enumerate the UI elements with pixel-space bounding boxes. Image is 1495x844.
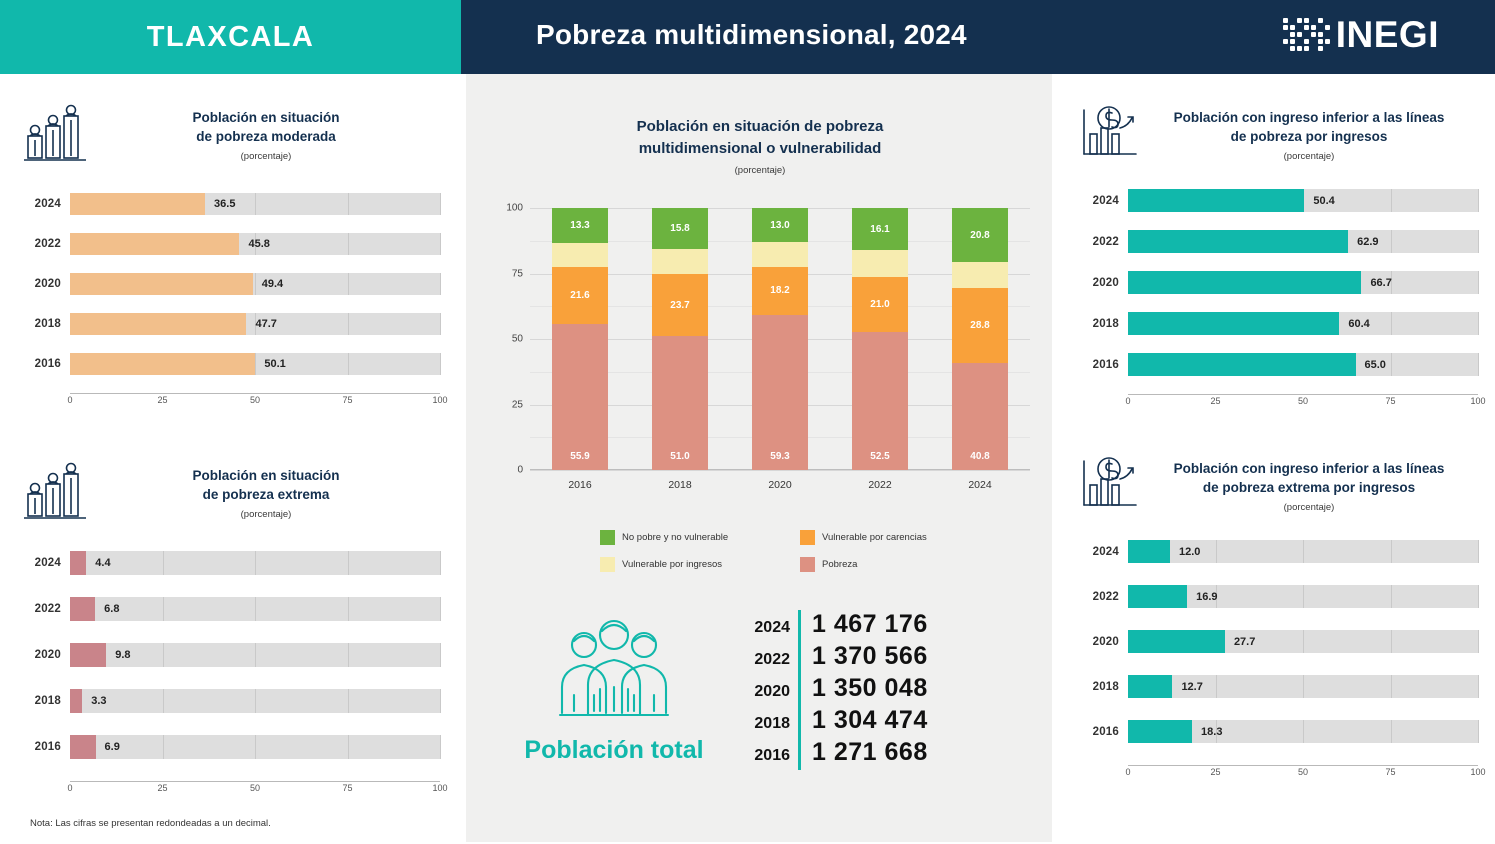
segment-value-label: 13.3 (570, 220, 589, 231)
gridline (255, 643, 256, 667)
axis-tick-label: 100 (1470, 396, 1485, 406)
chart-pobreza-extrema: Población en situación de pobreza extrem… (20, 462, 440, 797)
population-year: 2018 (744, 715, 798, 733)
bar-value-label: 45.8 (248, 238, 269, 250)
bar-category-label: 2016 (20, 358, 70, 370)
gridline (1478, 271, 1479, 294)
bar-value-label: 50.4 (1313, 195, 1334, 207)
bar-row: 20166.9 (20, 735, 440, 759)
legend-swatch (800, 530, 815, 545)
bar-category-label: 2024 (20, 557, 70, 569)
axis-tick-label: 75 (1385, 767, 1395, 777)
bar-fill (70, 551, 86, 575)
axis-tick-label: 25 (1210, 767, 1220, 777)
logo-text: INEGI (1336, 14, 1439, 56)
population-table: 20241 467 17620221 370 56620201 350 0482… (744, 610, 928, 770)
chart-subtitle: (porcentaje) (490, 165, 1030, 176)
population-row: 20241 467 176 (744, 610, 928, 642)
axis-tick-label: 0 (67, 395, 72, 405)
chart-title-group: Población en situación de pobreza extrem… (92, 462, 440, 520)
gridline (348, 353, 349, 375)
population-year: 2024 (744, 619, 798, 637)
bar-row: 201812.7 (1078, 675, 1478, 698)
gridline (1303, 585, 1304, 608)
chart-header: Población con ingreso inferior a las lín… (1078, 455, 1478, 518)
bar-value-label: 62.9 (1357, 236, 1378, 248)
money-chart-icon (1078, 455, 1140, 518)
segment-value-label: 16.1 (870, 224, 889, 235)
gridline (348, 193, 349, 215)
bar-fill (1128, 585, 1187, 608)
bar-value-label: 3.3 (91, 695, 106, 707)
people-growth-icon (20, 104, 92, 171)
stacked-column: 52.521.010.416.12022 (852, 208, 908, 470)
population-value: 1 304 474 (812, 706, 928, 735)
legend-item: Vulnerable por carencias (800, 530, 1000, 545)
bar-track: 6.9 (70, 735, 440, 759)
bar-category-label: 2018 (1078, 681, 1128, 693)
bar-track: 50.4 (1128, 189, 1478, 212)
gridline (1391, 675, 1392, 698)
population-caption: Población total (500, 736, 728, 765)
bar-fill (1128, 540, 1170, 563)
segment-value-label: 51.0 (670, 451, 689, 462)
stack-segment: 21.0 (852, 277, 908, 332)
gridline (255, 193, 256, 215)
gridline (163, 643, 164, 667)
bar-value-label: 9.8 (115, 649, 130, 661)
bar-row: 201650.1 (20, 353, 440, 375)
population-total-block: Población total 20241 467 17620221 370 5… (500, 600, 1020, 780)
gridline (1478, 585, 1479, 608)
population-row: 20181 304 474 (744, 706, 928, 738)
bar-value-label: 66.7 (1370, 277, 1391, 289)
bar-track: 12.7 (1128, 675, 1478, 698)
bar-track: 4.4 (70, 551, 440, 575)
title-banner: Pobreza multidimensional, 2024 INEGI (461, 0, 1495, 74)
divider (798, 642, 801, 674)
axis-tick-label: 25 (157, 783, 167, 793)
segment-value-label: 13.0 (770, 220, 789, 231)
population-row: 20161 271 668 (744, 738, 928, 770)
gridline (1478, 720, 1479, 743)
chart-title-line2: de pobreza extrema por ingresos (1140, 478, 1478, 497)
axis-tick-label: 50 (1298, 396, 1308, 406)
legend-swatch (600, 530, 615, 545)
stack-segment (852, 250, 908, 277)
bar-track: 65.0 (1128, 353, 1478, 376)
segment-value-label: 52.5 (870, 451, 889, 462)
gridline (1391, 585, 1392, 608)
chart-subtitle: (porcentaje) (92, 509, 440, 520)
legend-item: Vulnerable por ingresos (600, 557, 800, 572)
gridline (530, 470, 1030, 471)
segment-value-label: 18.2 (770, 285, 789, 296)
gridline (1478, 312, 1479, 335)
bar-track: 3.3 (70, 689, 440, 713)
gridline (1478, 630, 1479, 653)
chart-title-line1: Población en situación (92, 108, 440, 127)
bar-fill (1128, 230, 1348, 253)
gridline (1303, 720, 1304, 743)
legend-label: No pobre y no vulnerable (622, 532, 728, 543)
segment-value-label: 55.9 (570, 451, 589, 462)
axis-tick-label: 0 (67, 783, 72, 793)
bar-category-label: 2018 (20, 695, 70, 707)
bar-category-label: 2016 (1078, 359, 1128, 371)
x-axis-tick-label: 2024 (952, 479, 1008, 491)
bar-row: 202262.9 (1078, 230, 1478, 253)
segment-value-label: 40.8 (970, 451, 989, 462)
axis-tick-label: 100 (432, 395, 447, 405)
bar-value-label: 36.5 (214, 198, 235, 210)
axis-tick-label: 0 (1125, 767, 1130, 777)
bar-category-label: 2016 (20, 741, 70, 753)
bar-fill (70, 735, 96, 759)
gridline (1478, 675, 1479, 698)
bar-track: 18.3 (1128, 720, 1478, 743)
bar-track: 50.1 (70, 353, 440, 375)
gridline (440, 643, 441, 667)
gridline (440, 313, 441, 335)
stack-segment: 59.3 (752, 315, 808, 470)
bar-track: 62.9 (1128, 230, 1478, 253)
bar-category-label: 2018 (20, 318, 70, 330)
population-row: 20221 370 566 (744, 642, 928, 674)
bar-track: 66.7 (1128, 271, 1478, 294)
bar-fill (1128, 630, 1225, 653)
stacked-column-chart: 025507510055.921.69.113.3201651.023.79.5… (530, 208, 1030, 470)
segment-value-label: 59.3 (770, 451, 789, 462)
divider (798, 738, 801, 770)
stack-segment: 40.8 (952, 363, 1008, 470)
gridline (440, 689, 441, 713)
gridline (255, 689, 256, 713)
axis-tick-label: 50 (250, 783, 260, 793)
segment-value-label: 21.6 (570, 290, 589, 301)
gridline (1391, 312, 1392, 335)
bar-fill (1128, 312, 1339, 335)
gridline (440, 273, 441, 295)
inegi-logo: INEGI (1283, 14, 1439, 56)
chart-header: Población en situación de pobreza extrem… (20, 462, 440, 529)
bar-value-label: 12.0 (1179, 546, 1200, 558)
bar-fill (1128, 353, 1356, 376)
stack-segment: 18.2 (752, 267, 808, 315)
stack-segment: 28.8 (952, 288, 1008, 363)
segment-value-label: 28.8 (970, 320, 989, 331)
people-growth-icon (20, 462, 92, 529)
legend-label: Vulnerable por carencias (822, 532, 927, 543)
bar-row: 202450.4 (1078, 189, 1478, 212)
bar-row: 20209.8 (20, 643, 440, 667)
logo-dots-icon (1283, 18, 1331, 52)
stack-segment: 20.8 (952, 208, 1008, 262)
chart-title-line2: de pobreza extrema (92, 485, 440, 504)
chart-title-line2: multidimensional o vulnerabilidad (490, 138, 1030, 160)
gridline (1391, 230, 1392, 253)
bar-category-label: 2018 (1078, 318, 1128, 330)
people-group-icon (540, 615, 688, 727)
population-year: 2020 (744, 683, 798, 701)
bar-row: 202066.7 (1078, 271, 1478, 294)
chart-pobreza-moderada: Población en situación de pobreza modera… (20, 104, 440, 409)
gridline (440, 233, 441, 255)
population-year: 2022 (744, 651, 798, 669)
bar-row: 20244.4 (20, 551, 440, 575)
axis-baseline (70, 781, 440, 782)
bar-fill (70, 353, 255, 375)
x-axis-tick-label: 2016 (552, 479, 608, 491)
chart-title-line1: Población con ingreso inferior a las lín… (1140, 108, 1478, 127)
chart-legend: No pobre y no vulnerableVulnerable por c… (600, 530, 1000, 572)
bar-fill (70, 273, 253, 295)
axis-baseline (1128, 394, 1478, 395)
bar-fill (1128, 720, 1192, 743)
stack-segment: 13.0 (752, 208, 808, 242)
gridline (348, 233, 349, 255)
chart-ingreso-extrema: Población con ingreso inferior a las lín… (1078, 455, 1478, 781)
chart-header: Población con ingreso inferior a las lín… (1078, 104, 1478, 167)
legend-swatch (600, 557, 615, 572)
y-axis-tick-label: 75 (512, 268, 523, 279)
gridline (1391, 540, 1392, 563)
stack-segment: 16.1 (852, 208, 908, 250)
y-axis-tick-label: 50 (512, 334, 523, 345)
bar-category-label: 2024 (1078, 546, 1128, 558)
bar-fill (70, 643, 106, 667)
gridline (1391, 720, 1392, 743)
y-axis-tick-label: 100 (506, 203, 523, 214)
axis-tick-label: 75 (342, 783, 352, 793)
bar-row: 202245.8 (20, 233, 440, 255)
gridline (255, 597, 256, 621)
gridline (1478, 230, 1479, 253)
chart-header: Población en situación de pobreza modera… (20, 104, 440, 171)
gridline (348, 273, 349, 295)
bar-fill (1128, 675, 1172, 698)
bar-category-label: 2024 (1078, 195, 1128, 207)
bar-category-label: 2020 (1078, 277, 1128, 289)
gridline (440, 551, 441, 575)
bar-fill (70, 689, 82, 713)
chart-pobreza-multidimensional: Población en situación de pobreza multid… (490, 112, 1030, 176)
bar-track: 47.7 (70, 313, 440, 335)
axis-baseline (70, 393, 440, 394)
gridline (1391, 630, 1392, 653)
population-value: 1 467 176 (812, 610, 928, 639)
axis-baseline (1128, 765, 1478, 766)
population-row: 20201 350 048 (744, 674, 928, 706)
bar-row: 202216.9 (1078, 585, 1478, 608)
chart-title-group: Población en situación de pobreza multid… (490, 112, 1030, 176)
gridline (1303, 540, 1304, 563)
bar-track: 16.9 (1128, 585, 1478, 608)
chart-subtitle: (porcentaje) (1140, 151, 1478, 162)
gridline (163, 689, 164, 713)
stack-segment: 15.8 (652, 208, 708, 249)
chart-title-group: Población con ingreso inferior a las lín… (1140, 455, 1478, 513)
gridline (163, 735, 164, 759)
bar-value-label: 4.4 (95, 557, 110, 569)
divider (798, 706, 801, 738)
bar-category-label: 2016 (1078, 726, 1128, 738)
stacked-column: 51.023.79.515.82018 (652, 208, 708, 470)
chart-ingreso-pobreza: Población con ingreso inferior a las lín… (1078, 104, 1478, 410)
bar-fill (1128, 271, 1361, 294)
gridline (255, 273, 256, 295)
chart-title-group: Población con ingreso inferior a las lín… (1140, 104, 1478, 162)
gridline (348, 551, 349, 575)
bar-track: 6.8 (70, 597, 440, 621)
bar-row: 20226.8 (20, 597, 440, 621)
axis-tick-label: 75 (342, 395, 352, 405)
bar-track: 27.7 (1128, 630, 1478, 653)
axis-tick-label: 0 (1125, 396, 1130, 406)
bar-row: 201665.0 (1078, 353, 1478, 376)
bar-value-label: 6.8 (104, 603, 119, 615)
bar-category-label: 2020 (20, 649, 70, 661)
gridline (1216, 540, 1217, 563)
population-value: 1 271 668 (812, 738, 928, 767)
gridline (255, 735, 256, 759)
axis-tick-label: 50 (250, 395, 260, 405)
gridline (440, 353, 441, 375)
bar-value-label: 6.9 (105, 741, 120, 753)
bar-row: 202027.7 (1078, 630, 1478, 653)
gridline (1478, 189, 1479, 212)
bar-value-label: 27.7 (1234, 636, 1255, 648)
gridline (1478, 353, 1479, 376)
y-axis-tick-label: 0 (517, 465, 523, 476)
population-value: 1 350 048 (812, 674, 928, 703)
bar-value-label: 60.4 (1348, 318, 1369, 330)
bar-fill (70, 313, 246, 335)
bar-row: 202412.0 (1078, 540, 1478, 563)
chart-title-line2: de pobreza moderada (92, 127, 440, 146)
bar-track: 45.8 (70, 233, 440, 255)
stack-segment (552, 243, 608, 267)
stacked-column: 59.318.29.413.02020 (752, 208, 808, 470)
axis-tick-label: 50 (1298, 767, 1308, 777)
stack-segment: 55.9 (552, 324, 608, 470)
gridline (1303, 630, 1304, 653)
bar-category-label: 2020 (1078, 636, 1128, 648)
axis-tick-label: 25 (157, 395, 167, 405)
divider (798, 674, 801, 706)
population-value: 1 370 566 (812, 642, 928, 671)
x-axis: 0255075100 (1128, 394, 1478, 410)
page-header: TLAXCALA Pobreza multidimensional, 2024 … (0, 0, 1495, 74)
legend-item: No pobre y no vulnerable (600, 530, 800, 545)
stack-segment: 51.0 (652, 336, 708, 470)
gridline (348, 597, 349, 621)
gridline (163, 551, 164, 575)
bar-row: 202049.4 (20, 273, 440, 295)
gridline (1478, 540, 1479, 563)
bar-track: 12.0 (1128, 540, 1478, 563)
gridline (1391, 353, 1392, 376)
legend-label: Pobreza (822, 559, 857, 570)
segment-value-label: 15.8 (670, 223, 689, 234)
gridline (348, 689, 349, 713)
chart-title-group: Población en situación de pobreza modera… (92, 104, 440, 162)
infographic-page: TLAXCALA Pobreza multidimensional, 2024 … (0, 0, 1495, 844)
bar-track: 60.4 (1128, 312, 1478, 335)
bar-value-label: 65.0 (1364, 359, 1385, 371)
bar-value-label: 49.4 (262, 278, 283, 290)
y-axis-tick-label: 25 (512, 399, 523, 410)
bar-category-label: 2022 (20, 238, 70, 250)
bar-category-label: 2022 (20, 603, 70, 615)
gridline (1391, 189, 1392, 212)
bar-chart-body: 202450.4202262.9202066.7201860.4201665.0… (1078, 189, 1478, 410)
bar-value-label: 16.9 (1196, 591, 1217, 603)
chart-title-line2: de pobreza por ingresos (1140, 127, 1478, 146)
stack-segment (652, 249, 708, 274)
legend-item: Pobreza (800, 557, 1000, 572)
gridline (348, 313, 349, 335)
bar-track: 36.5 (70, 193, 440, 215)
segment-value-label: 23.7 (670, 300, 689, 311)
bar-fill (70, 193, 205, 215)
stack-segment: 13.3 (552, 208, 608, 243)
gridline (440, 735, 441, 759)
bar-row: 201847.7 (20, 313, 440, 335)
bar-value-label: 47.7 (255, 318, 276, 330)
gridline (163, 597, 164, 621)
population-year: 2016 (744, 747, 798, 765)
bar-row: 201618.3 (1078, 720, 1478, 743)
axis-tick-label: 100 (1470, 767, 1485, 777)
bar-category-label: 2020 (20, 278, 70, 290)
segment-value-label: 20.8 (970, 230, 989, 241)
gridline (440, 597, 441, 621)
axis-tick-label: 75 (1385, 396, 1395, 406)
gridline (440, 193, 441, 215)
bar-chart-body: 202412.0202216.9202027.7201812.7201618.3… (1078, 540, 1478, 781)
bar-chart-body: 202436.5202245.8202049.4201847.7201650.1… (20, 193, 440, 409)
gridline (255, 551, 256, 575)
footnote: Nota: Las cifras se presentan redondeada… (30, 818, 271, 829)
chart-title-line1: Población con ingreso inferior a las lín… (1140, 459, 1478, 478)
bar-fill (70, 233, 239, 255)
x-axis: 0255075100 (1128, 765, 1478, 781)
state-name: TLAXCALA (147, 21, 314, 54)
bar-fill (1128, 189, 1304, 212)
bar-category-label: 2022 (1078, 236, 1128, 248)
stacked-column: 40.828.89.620.82024 (952, 208, 1008, 470)
chart-title-line1: Población en situación de pobreza (490, 116, 1030, 138)
bar-value-label: 18.3 (1201, 726, 1222, 738)
population-icon-group: Población total (500, 615, 728, 765)
axis-tick-label: 100 (432, 783, 447, 793)
stack-segment (752, 242, 808, 267)
x-axis: 0255075100 (70, 393, 440, 409)
legend-label: Vulnerable por ingresos (622, 559, 722, 570)
x-axis-tick-label: 2018 (652, 479, 708, 491)
chart-title-line1: Población en situación (92, 466, 440, 485)
money-chart-icon (1078, 104, 1140, 167)
x-axis: 0255075100 (70, 781, 440, 797)
stack-segment: 23.7 (652, 274, 708, 336)
stack-segment (952, 262, 1008, 287)
bar-row: 202436.5 (20, 193, 440, 215)
bar-category-label: 2022 (1078, 591, 1128, 603)
axis-tick-label: 25 (1210, 396, 1220, 406)
stack-segment: 21.6 (552, 267, 608, 324)
x-axis-tick-label: 2020 (752, 479, 808, 491)
